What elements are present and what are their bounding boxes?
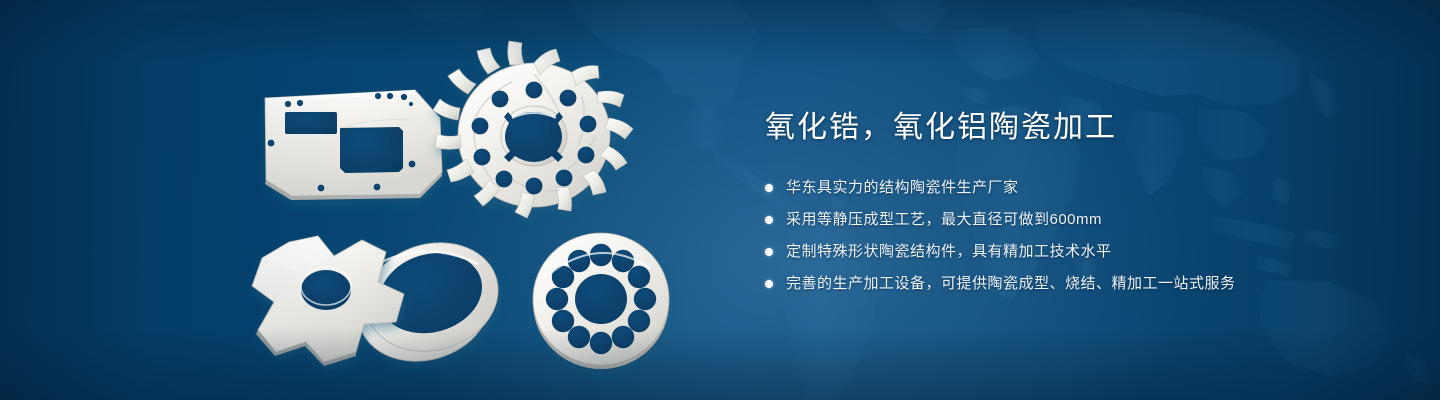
- feature-item: 完善的生产加工设备，可提供陶瓷成型、烧结、精加工一站式服务: [765, 272, 1385, 296]
- feature-item: 采用等静压成型工艺，最大直径可做到600mm: [765, 208, 1385, 232]
- feature-text: 完善的生产加工设备，可提供陶瓷成型、烧结、精加工一站式服务: [786, 272, 1236, 296]
- ceramic-machined-plate: [265, 90, 442, 200]
- feature-item: 定制特殊形状陶瓷结构件，具有精加工技术水平: [765, 240, 1385, 264]
- ceramic-impeller-disc: [433, 41, 633, 218]
- feature-item: 华东具实力的结构陶瓷件生产厂家: [765, 176, 1385, 200]
- feature-text: 采用等静压成型工艺，最大直径可做到600mm: [786, 208, 1102, 232]
- banner-feature-list: 华东具实力的结构陶瓷件生产厂家 采用等静压成型工艺，最大直径可做到600mm 定…: [765, 176, 1385, 296]
- banner-text-block: 氧化锆，氧化铝陶瓷加工 华东具实力的结构陶瓷件生产厂家 采用等静压成型工艺，最大…: [765, 108, 1385, 304]
- hero-banner: 氧化锆，氧化铝陶瓷加工 华东具实力的结构陶瓷件生产厂家 采用等静压成型工艺，最大…: [0, 0, 1440, 400]
- product-image-cluster: [0, 0, 720, 400]
- bullet-dot-icon: [765, 184, 773, 192]
- bullet-dot-icon: [765, 280, 773, 288]
- banner-headline: 氧化锆，氧化铝陶瓷加工: [765, 108, 1385, 148]
- ceramic-rings: [345, 228, 511, 377]
- feature-text: 华东具实力的结构陶瓷件生产厂家: [786, 176, 1019, 200]
- feature-text: 定制特殊形状陶瓷结构件，具有精加工技术水平: [786, 240, 1112, 264]
- bullet-dot-icon: [765, 248, 773, 256]
- ceramic-perforated-disc: [533, 233, 669, 369]
- ceramic-cross-plate: [252, 236, 404, 366]
- bullet-dot-icon: [765, 216, 773, 224]
